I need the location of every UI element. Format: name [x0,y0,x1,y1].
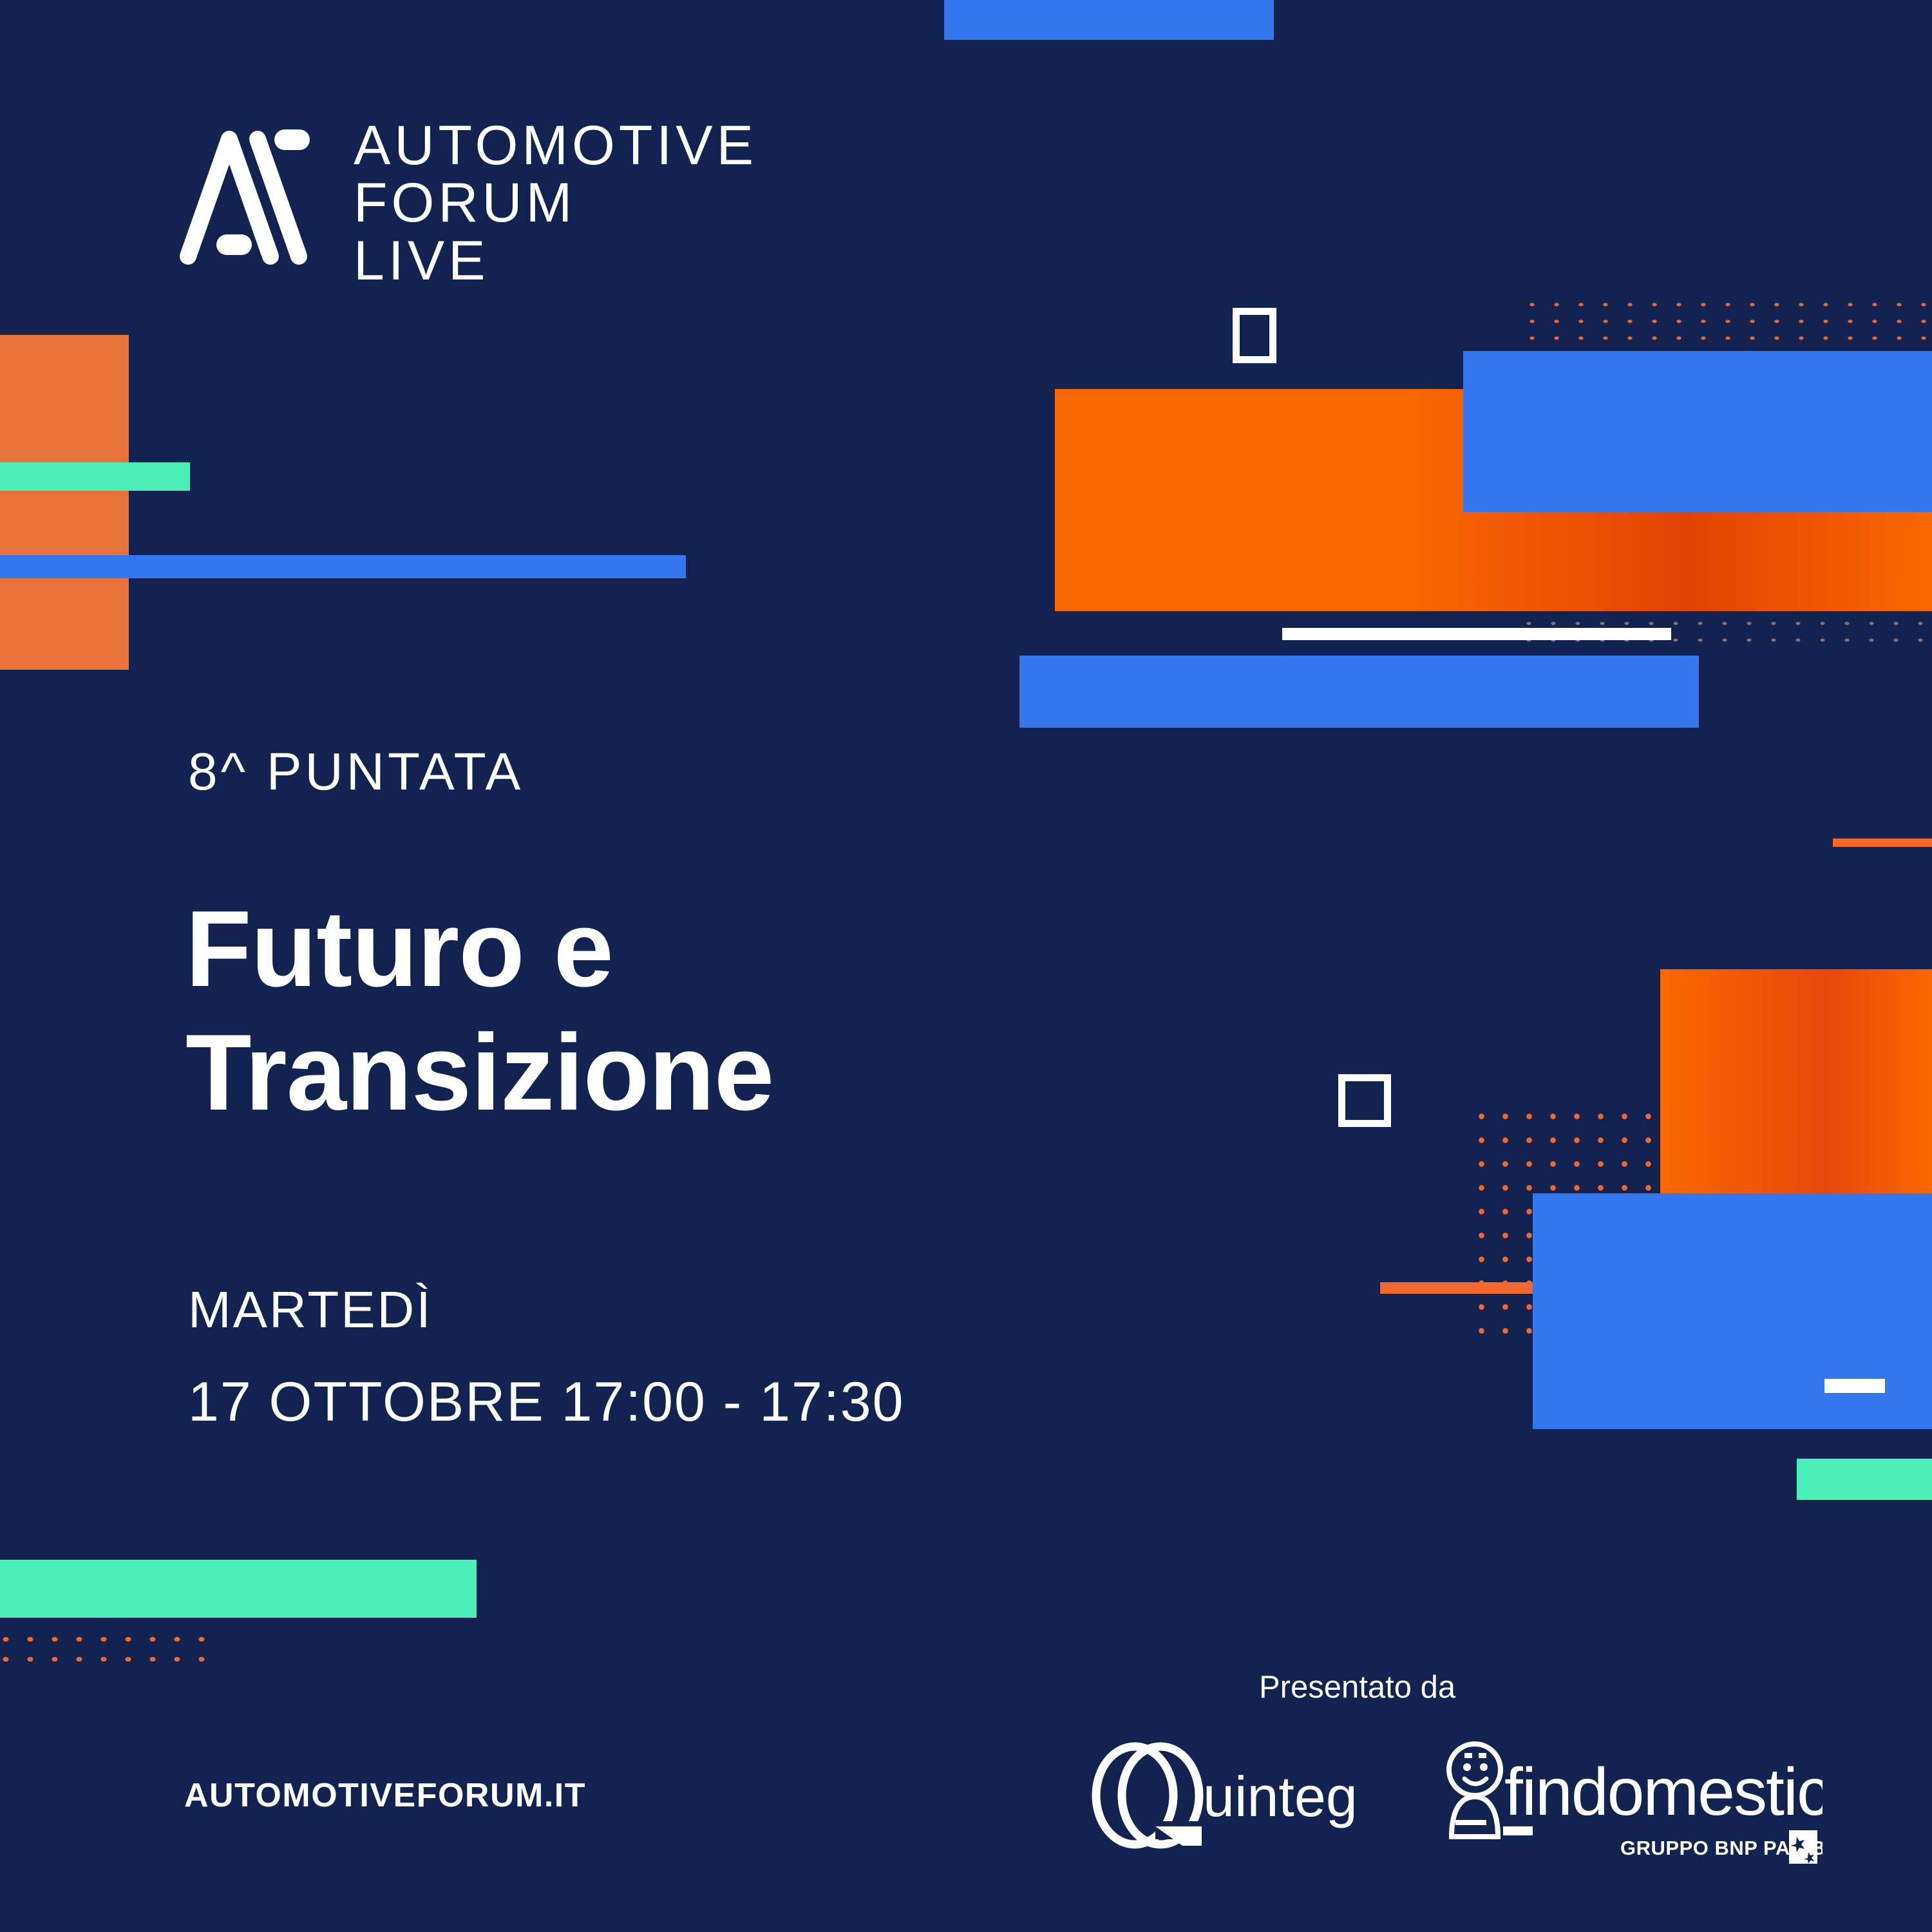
deco-blue-panel-upper [1463,351,1932,512]
deco-white-bar-lower [1824,1379,1885,1393]
deco-teal-bar-left [0,462,190,491]
deco-orange-panel-lower [1660,969,1932,1195]
brand-line-forum: FORUM [354,175,757,232]
sponsor-logos: uintegia findomestic GRUPPO BNP PARIBAS [1088,1739,1823,1877]
page-title: Futuro e Transizione [185,887,773,1134]
promo-poster: AUTOMOTIVE FORUM LIVE 8^ PUNTATA Futuro … [0,0,1932,1932]
deco-white-bar-upper [1282,628,1671,640]
brand-line-live: LIVE [354,232,757,290]
deco-orange-line-right [1833,838,1932,847]
bnp-paribas-stars-icon [1789,1830,1817,1864]
deco-teal-bar-right [1797,1459,1932,1500]
quintegia-logo-icon[interactable]: uintegia [1088,1739,1359,1861]
title-line-1: Futuro e [185,887,773,1011]
schedule-datetime: 17 OTTOBRE 17:00 - 17:30 [188,1370,904,1434]
brand-logo-lockup: AUTOMOTIVE FORUM LIVE [179,117,757,290]
deco-blue-bar-mid [1019,656,1699,728]
deco-blue-bar-top [944,0,1274,40]
deco-teal-bar-bottom-left [0,1560,477,1618]
presented-by-label: Presentato da [1259,1669,1455,1705]
title-line-2: Transizione [185,1011,773,1135]
deco-orange-block-left [0,335,129,670]
episode-label: 8^ PUNTATA [188,742,524,802]
schedule-day: MARTEDÌ [188,1280,433,1340]
automotive-forum-a-mark-icon [179,117,317,265]
deco-blue-line-left [0,555,686,578]
deco-outlined-square-lower [1338,1074,1391,1127]
findomestic-wordmark: findomestic [1504,1755,1823,1830]
quintegia-wordmark: uintegia [1203,1765,1359,1828]
deco-blue-panel-lower [1533,1193,1932,1429]
deco-dot-grid-top-right [1520,296,1932,345]
brand-line-automotive: AUTOMOTIVE [354,117,757,175]
deco-outlined-square-upper [1233,308,1276,363]
findomestic-logo-icon[interactable]: findomestic GRUPPO BNP PARIBAS [1436,1739,1823,1877]
deco-orange-line-mid [1380,1282,1535,1294]
brand-wordmark: AUTOMOTIVE FORUM LIVE [354,117,757,290]
deco-dot-grid-bottom-left [0,1629,206,1667]
website-url[interactable]: AUTOMOTIVEFORUM.IT [184,1776,586,1815]
